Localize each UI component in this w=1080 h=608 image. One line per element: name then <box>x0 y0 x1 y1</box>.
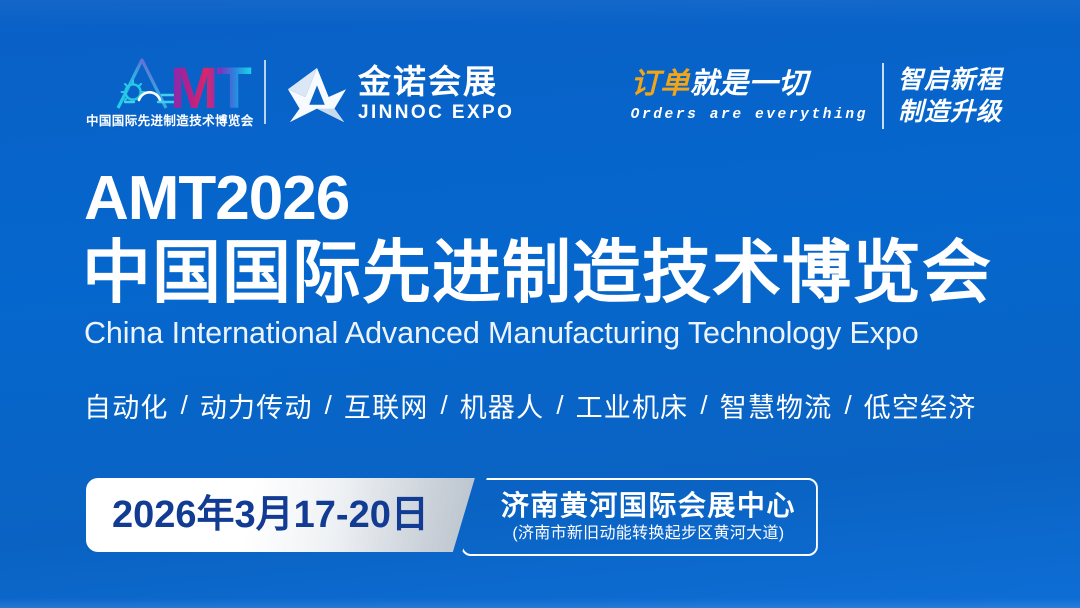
category-item: 智慧物流 <box>720 386 833 425</box>
jinnoc-wordmark: 金诺会展 JINNOC EXPO <box>358 65 514 124</box>
svg-text:MT: MT <box>170 56 251 114</box>
category-item: 工业机床 <box>576 386 689 425</box>
venue-name: 济南黄河国际会展中心 <box>501 491 796 522</box>
event-chinese-title: 中国国际先进制造技术博览会 <box>82 234 1010 311</box>
category-item: 自动化 <box>84 386 169 425</box>
tagline-accent-text: 订单 <box>631 70 690 99</box>
category-separator: / <box>844 390 851 421</box>
logo-divider <box>264 60 266 124</box>
venue-address: (济南市新旧动能转换起步区黄河大道) <box>512 524 784 543</box>
tagline-english: Orders are everything <box>631 107 868 123</box>
event-poster: MT 中国国际先进制造技术博览会 金诺会展 JINNOC EXPO <box>0 0 1080 608</box>
amt-logo-subtitle: 中国国际先进制造技术博览会 <box>86 110 250 129</box>
category-item: 机器人 <box>460 386 545 425</box>
amt-logo-mark: MT <box>84 54 252 114</box>
top-sheen-overlay <box>0 0 1080 26</box>
category-separator: / <box>441 390 448 421</box>
tagline-white-text: 就是一切 <box>690 70 808 99</box>
jinnoc-english-name: JINNOC EXPO <box>358 102 514 125</box>
bottom-sheen-overlay <box>0 598 1080 608</box>
tagline-chinese-row: 订单 就是一切 <box>631 70 808 99</box>
title-block: AMT2026 中国国际先进制造技术博览会 China Internationa… <box>82 168 1010 352</box>
event-code-title: AMT2026 <box>84 168 1010 230</box>
tagline-right-line-2: 制造升级 <box>898 98 1002 126</box>
event-english-title: China International Advanced Manufacturi… <box>84 315 1010 352</box>
category-separator: / <box>556 390 563 421</box>
category-separator: / <box>700 390 707 421</box>
tagline-divider <box>882 63 884 129</box>
category-item: 互联网 <box>344 386 429 425</box>
jinnoc-star-icon <box>286 64 348 126</box>
jinnoc-logo: 金诺会展 JINNOC EXPO <box>286 60 514 130</box>
event-date-badge: 2026年3月17-20日 <box>86 478 475 552</box>
category-separator: / <box>181 390 188 421</box>
category-item: 低空经济 <box>864 386 977 425</box>
jinnoc-chinese-name: 金诺会展 <box>358 65 514 100</box>
amt-logo: MT 中国国际先进制造技术博览会 <box>84 54 252 138</box>
header-tagline: 订单 就是一切 Orders are everything 智启新程 制造升级 <box>631 54 1002 138</box>
event-date-text: 2026年3月17-20日 <box>112 496 429 534</box>
category-item: 动力传动 <box>200 386 313 425</box>
amt-mountain-gear-icon: MT <box>84 54 252 114</box>
tagline-right-line-1: 智启新程 <box>898 66 1002 94</box>
tagline-primary: 订单 就是一切 Orders are everything <box>631 70 868 123</box>
event-venue-badge: 济南黄河国际会展中心 (济南市新旧动能转换起步区黄河大道) <box>461 478 818 556</box>
tagline-secondary: 智启新程 制造升级 <box>898 66 1002 126</box>
category-separator: / <box>325 390 332 421</box>
event-details-bar: 2026年3月17-20日 济南黄河国际会展中心 (济南市新旧动能转换起步区黄河… <box>86 478 818 552</box>
category-list: 自动化 / 动力传动 / 互联网 / 机器人 / 工业机床 / 智慧物流 / 低… <box>84 386 976 425</box>
poster-header: MT 中国国际先进制造技术博览会 金诺会展 JINNOC EXPO <box>0 48 1080 144</box>
